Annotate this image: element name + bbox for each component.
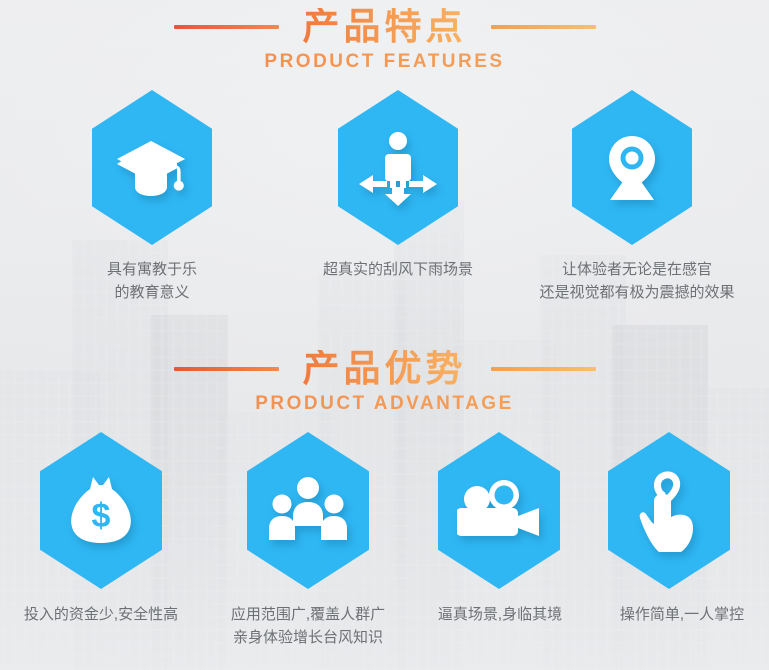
touch-hand-icon [634,470,704,552]
section-title-en: PRODUCT FEATURES [0,51,769,73]
feature-caption-2: 超真实的刮风下雨场景 [288,258,508,281]
header-rule-right [491,25,596,29]
person-arrows-icon [357,130,439,206]
video-camera-icon [457,480,541,542]
section-header-features: 产品特点 PRODUCT FEATURES [0,8,769,73]
advantage-caption-2: 应用范围广,覆盖人群广 亲身体验增长台风知识 [198,603,418,650]
caption-line: 的教育意义 [32,281,272,304]
section-header-advantage: 产品优势 PRODUCT ADVANTAGE [0,350,769,415]
section-title-en: PRODUCT ADVANTAGE [0,393,769,415]
feature-caption-3: 让体验者无论是在感官 还是视觉都有极为震撼的效果 [512,258,762,305]
caption-line: 操作简单,一人掌控 [592,603,769,626]
caption-line: 应用范围广,覆盖人群广 [198,603,418,626]
graduation-cap-icon [115,135,189,201]
caption-line: 具有寓教于乐 [32,258,272,281]
section-title-cn: 产品特点 [303,8,467,47]
section-title-cn: 产品优势 [303,350,467,389]
money-bag-icon: $ [66,473,136,549]
caption-line: 逼真场景,身临其境 [410,603,590,626]
header-rule-left [174,367,279,371]
feature-caption-1: 具有寓教于乐 的教育意义 [32,258,272,305]
location-pin-icon [596,132,668,204]
caption-line: 还是视觉都有极为震撼的效果 [512,281,762,304]
caption-line: 让体验者无论是在感官 [512,258,762,281]
svg-text:$: $ [92,497,111,535]
caption-line: 超真实的刮风下雨场景 [288,258,508,281]
caption-line: 亲身体验增长台风知识 [198,626,418,649]
advantage-caption-4: 操作简单,一人掌控 [592,603,769,626]
advantage-caption-3: 逼真场景,身临其境 [410,603,590,626]
people-group-icon [267,476,349,546]
advantage-caption-1: 投入的资金少,安全性高 [0,603,207,626]
promo-page: 产品特点 PRODUCT FEATURES 具有寓教于乐 的教育意义 [0,0,769,670]
header-rule-left [174,25,279,29]
header-rule-right [491,367,596,371]
caption-line: 投入的资金少,安全性高 [0,603,207,626]
